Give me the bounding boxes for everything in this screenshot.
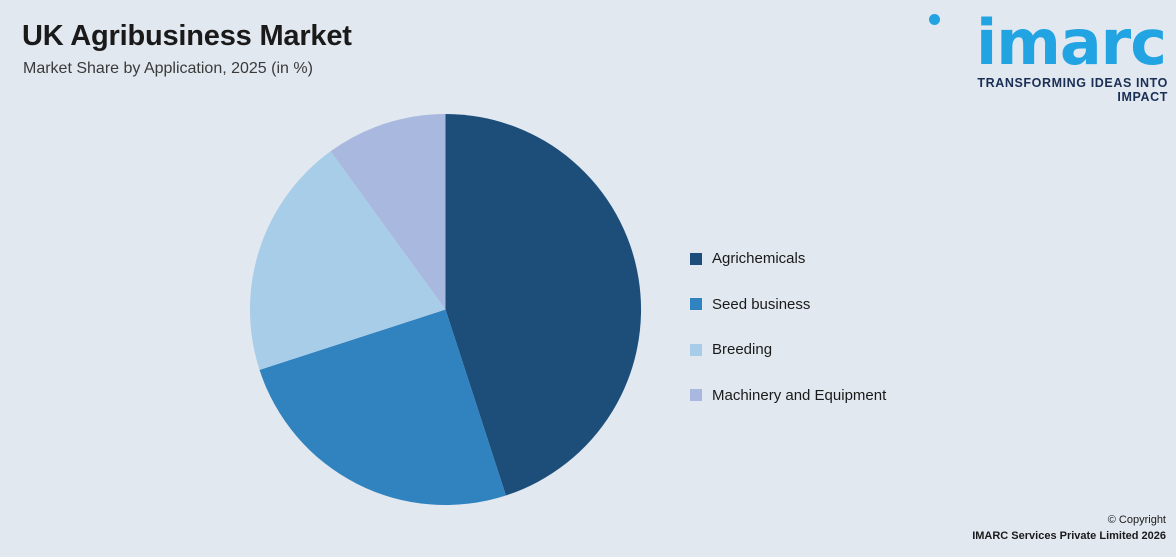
legend-label: Breeding (712, 341, 772, 358)
copyright-line-1: © Copyright (972, 513, 1166, 529)
legend-item[interactable]: Machinery and Equipment (690, 373, 1090, 419)
legend-label: Seed business (712, 296, 810, 313)
legend-item[interactable]: Seed business (690, 282, 1090, 328)
legend-swatch-machinery-and-equipment (690, 389, 702, 401)
imarc-logo: imarc TRANSFORMING IDEAS INTO IMPACT (928, 12, 1168, 108)
chart-legend: Agrichemicals Seed business Breeding Mac… (690, 236, 1090, 418)
legend-swatch-seed-business (690, 298, 702, 310)
legend-item[interactable]: Breeding (690, 327, 1090, 373)
legend-swatch-agrichemicals (690, 253, 702, 265)
page-subtitle: Market Share by Application, 2025 (in %) (23, 60, 313, 78)
copyright-block: © Copyright IMARC Services Private Limit… (972, 513, 1166, 545)
page-title: UK Agribusiness Market (22, 20, 352, 53)
logo-wordmark: imarc (976, 12, 1168, 74)
chart-page: UK Agribusiness Market Market Share by A… (0, 0, 1176, 557)
legend-item[interactable]: Agrichemicals (690, 236, 1090, 282)
pie-chart (248, 112, 643, 507)
legend-label: Machinery and Equipment (712, 387, 886, 404)
pie-chart-svg (248, 112, 643, 507)
logo-dot-icon (929, 14, 940, 25)
legend-swatch-breeding (690, 344, 702, 356)
copyright-line-2: IMARC Services Private Limited 2026 (972, 529, 1166, 545)
legend-label: Agrichemicals (712, 250, 805, 267)
logo-tagline: TRANSFORMING IDEAS INTO IMPACT (928, 76, 1168, 104)
